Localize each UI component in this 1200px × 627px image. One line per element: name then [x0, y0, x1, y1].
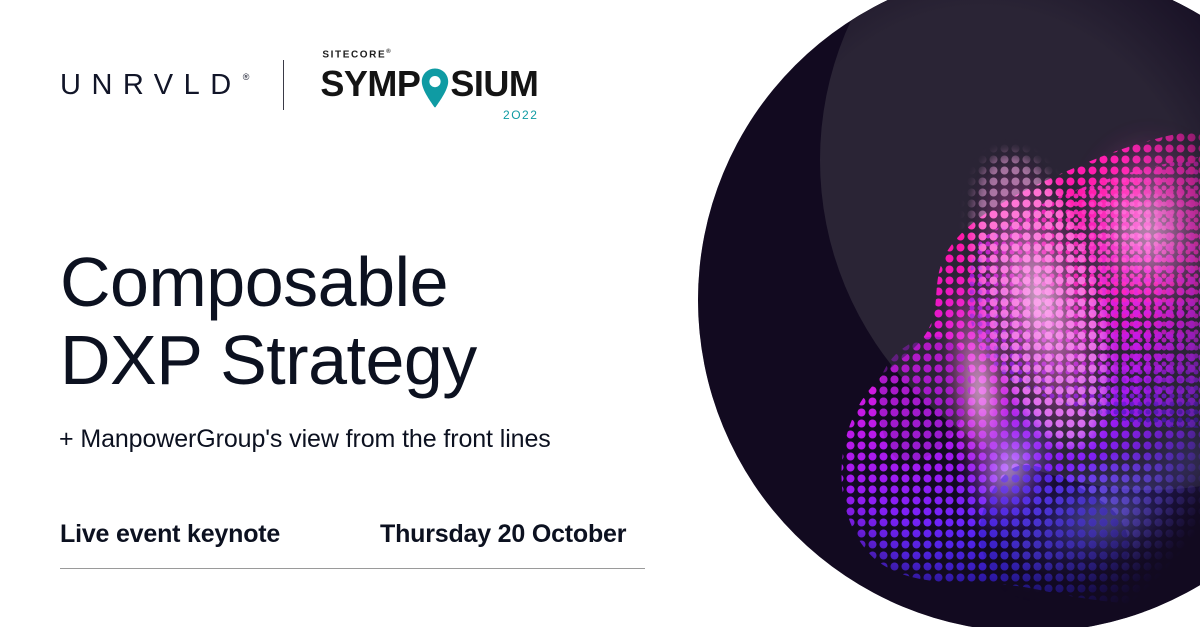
logo-divider — [283, 60, 284, 110]
event-type: Live event keynote — [60, 520, 380, 549]
sitecore-symposium-logo[interactable]: SITECORE® SYMP SIUM 2O22 — [320, 49, 538, 121]
unrvld-wordmark: UNRVLD — [60, 71, 242, 100]
registered-trademark-icon: ® — [243, 73, 250, 82]
page-title: Composable DXP Strategy — [60, 243, 680, 399]
symposium-wordmark: SYMP SIUM — [320, 63, 538, 105]
logo-bar: UNRVLD ® SITECORE® SYMP SIUM 2O22 — [60, 58, 538, 112]
halftone-dot-blob-artwork — [680, 0, 1200, 627]
symposium-year: 2O22 — [320, 109, 538, 121]
symposium-text-start: SYMP — [320, 66, 420, 102]
symposium-text-end: SIUM — [450, 66, 538, 102]
sitecore-wordmark: SITECORE® — [322, 49, 538, 60]
promo-banner: UNRVLD ® SITECORE® SYMP SIUM 2O22 Compo — [0, 0, 1200, 627]
event-details-row: Live event keynote Thursday 20 October — [60, 520, 645, 549]
location-pin-icon — [420, 67, 450, 109]
unrvld-logo[interactable]: UNRVLD ® — [60, 71, 249, 100]
page-subtitle: + ManpowerGroup's view from the front li… — [59, 425, 551, 454]
registered-trademark-icon: ® — [386, 49, 392, 55]
artwork-panel — [680, 0, 1200, 627]
event-date: Thursday 20 October — [380, 520, 626, 549]
event-footer: Live event keynote Thursday 20 October — [60, 520, 645, 569]
sitecore-text: SITECORE — [322, 49, 386, 60]
footer-divider — [60, 568, 645, 569]
